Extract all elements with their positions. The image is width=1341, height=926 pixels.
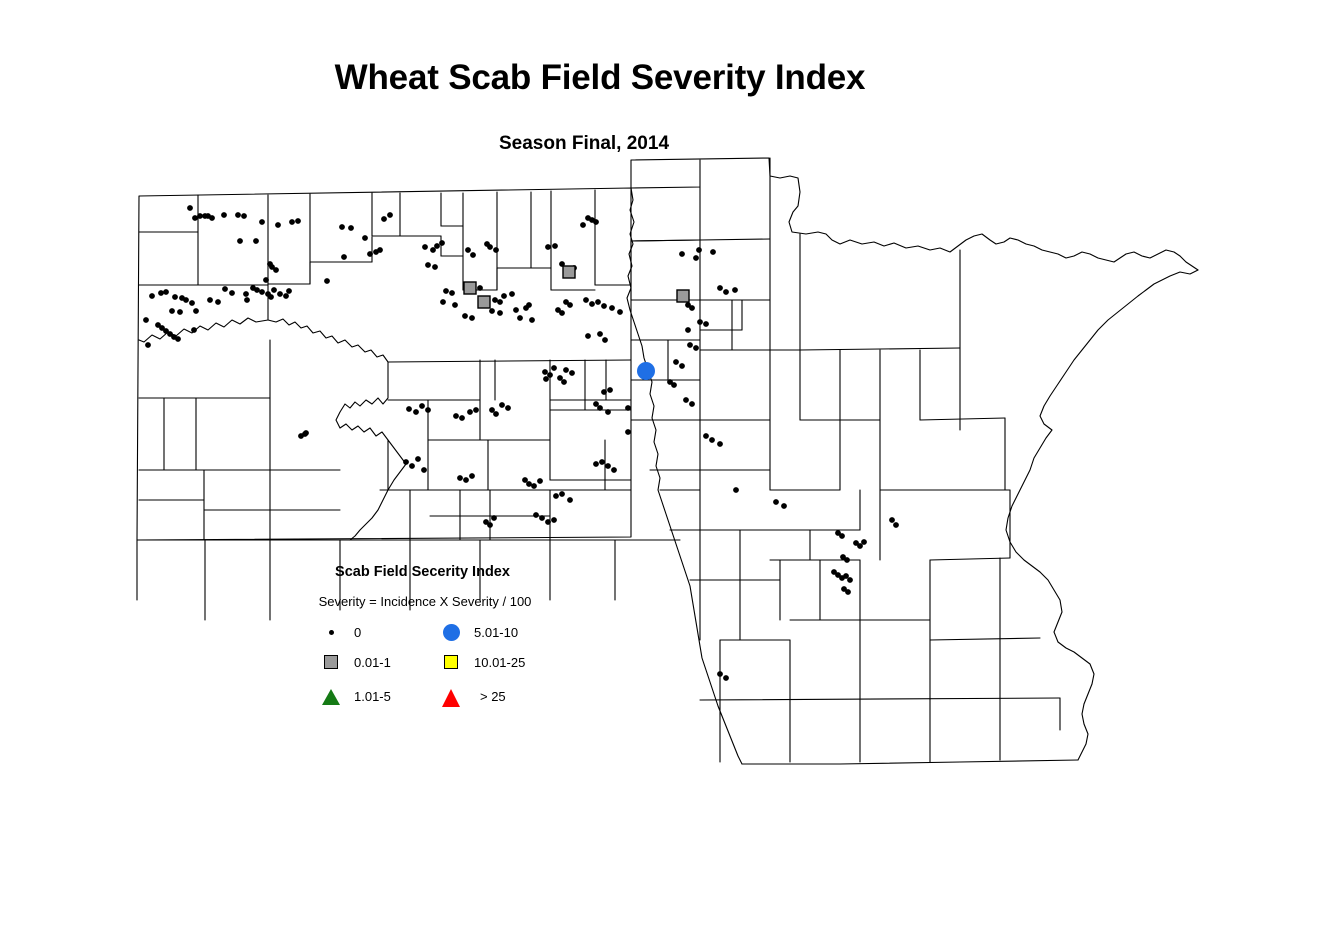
map-page: Wheat Scab Field Severity Index Season F… bbox=[0, 0, 1341, 926]
severity-point-zero bbox=[611, 467, 617, 473]
severity-point-zero bbox=[685, 327, 691, 333]
severity-point-gray-square bbox=[563, 266, 575, 278]
severity-point-zero bbox=[593, 219, 599, 225]
legend-item-label: 0.01-1 bbox=[354, 655, 391, 670]
severity-point-zero bbox=[723, 675, 729, 681]
legend-item-label: > 25 bbox=[480, 689, 506, 704]
severity-point-zero bbox=[403, 459, 409, 465]
severity-point-zero bbox=[625, 429, 631, 435]
severity-point-zero bbox=[459, 415, 465, 421]
severity-point-zero bbox=[539, 515, 545, 521]
severity-point-zero bbox=[295, 218, 301, 224]
severity-point-zero bbox=[452, 302, 458, 308]
severity-point-zero bbox=[187, 205, 193, 211]
severity-point-zero bbox=[625, 405, 631, 411]
legend-item-label: 10.01-25 bbox=[474, 655, 525, 670]
severity-point-zero bbox=[177, 309, 183, 315]
severity-point-zero bbox=[470, 252, 476, 258]
severity-point-zero bbox=[533, 512, 539, 518]
severity-point-zero bbox=[434, 243, 440, 249]
severity-point-zero bbox=[491, 515, 497, 521]
severity-point-zero bbox=[432, 264, 438, 270]
severity-point-zero bbox=[449, 290, 455, 296]
legend-item-label: 0 bbox=[354, 625, 361, 640]
severity-point-zero bbox=[893, 522, 899, 528]
severity-point-zero bbox=[193, 308, 199, 314]
severity-point-zero bbox=[732, 287, 738, 293]
severity-point-zero bbox=[543, 376, 549, 382]
severity-point-zero bbox=[545, 519, 551, 525]
severity-point-zero bbox=[367, 251, 373, 257]
severity-point-zero bbox=[847, 577, 853, 583]
severity-point-zero bbox=[673, 359, 679, 365]
severity-point-zero bbox=[497, 299, 503, 305]
severity-point-zero bbox=[845, 589, 851, 595]
legend-formula: Severity = Incidence X Severity / 100 bbox=[300, 594, 550, 609]
severity-point-zero bbox=[469, 473, 475, 479]
severity-point-zero bbox=[243, 291, 249, 297]
severity-point-zero bbox=[283, 293, 289, 299]
severity-point-zero bbox=[605, 463, 611, 469]
severity-point-zero bbox=[229, 290, 235, 296]
severity-point-zero bbox=[419, 403, 425, 409]
severity-point-zero bbox=[683, 397, 689, 403]
severity-point-zero bbox=[387, 212, 393, 218]
severity-point-zero bbox=[487, 244, 493, 250]
severity-point-zero bbox=[473, 407, 479, 413]
severity-map[interactable] bbox=[0, 0, 1341, 926]
severity-point-zero bbox=[689, 305, 695, 311]
severity-point-zero bbox=[244, 297, 250, 303]
severity-point-zero bbox=[339, 224, 345, 230]
severity-point-zero bbox=[440, 299, 446, 305]
severity-point-zero bbox=[377, 247, 383, 253]
severity-point-zero bbox=[861, 539, 867, 545]
severity-point-zero bbox=[275, 222, 281, 228]
yellow-square-icon bbox=[440, 650, 466, 676]
severity-point-zero bbox=[607, 387, 613, 393]
severity-point-zero bbox=[501, 293, 507, 299]
severity-point-zero bbox=[324, 278, 330, 284]
severity-point-zero bbox=[462, 313, 468, 319]
severity-point-zero bbox=[597, 331, 603, 337]
severity-point-zero bbox=[183, 297, 189, 303]
legend-item-label: 1.01-5 bbox=[354, 689, 391, 704]
severity-point-zero bbox=[422, 244, 428, 250]
severity-point-zero bbox=[439, 240, 445, 246]
severity-point-zero bbox=[381, 216, 387, 222]
severity-point-zero bbox=[443, 288, 449, 294]
severity-point-zero bbox=[263, 277, 269, 283]
severity-point-zero bbox=[551, 365, 557, 371]
severity-point-zero bbox=[492, 297, 498, 303]
severity-point-zero bbox=[693, 345, 699, 351]
severity-point-zero bbox=[679, 363, 685, 369]
severity-point-zero bbox=[143, 317, 149, 323]
severity-point-zero bbox=[241, 213, 247, 219]
severity-point-zero bbox=[563, 367, 569, 373]
severity-point-zero bbox=[599, 459, 605, 465]
severity-point-zero bbox=[497, 310, 503, 316]
severity-point-zero bbox=[149, 293, 155, 299]
severity-point-zero bbox=[413, 409, 419, 415]
severity-point-zero bbox=[517, 315, 523, 321]
severity-point-zero bbox=[268, 294, 274, 300]
severity-point-zero bbox=[189, 300, 195, 306]
severity-point-zero bbox=[609, 305, 615, 311]
severity-point-zero bbox=[221, 212, 227, 218]
severity-point-zero bbox=[457, 475, 463, 481]
legend-item-label: 5.01-10 bbox=[474, 625, 518, 640]
severity-point-zero bbox=[409, 463, 415, 469]
map-legend: Scab Field Secerity Index Severity = Inc… bbox=[300, 558, 562, 716]
county-boundaries bbox=[137, 158, 1198, 764]
severity-point-zero bbox=[569, 370, 575, 376]
severity-point-zero bbox=[697, 319, 703, 325]
severity-point-zero bbox=[580, 222, 586, 228]
severity-point-zero bbox=[709, 437, 715, 443]
severity-point-zero bbox=[531, 483, 537, 489]
severity-point-zero bbox=[489, 308, 495, 314]
severity-point-zero bbox=[605, 409, 611, 415]
severity-point-zero bbox=[703, 321, 709, 327]
severity-point-zero bbox=[559, 491, 565, 497]
severity-point-zero bbox=[839, 533, 845, 539]
severity-point-zero bbox=[589, 301, 595, 307]
severity-point-zero bbox=[235, 212, 241, 218]
severity-point-zero bbox=[463, 477, 469, 483]
severity-point-zero bbox=[844, 557, 850, 563]
severity-point-zero bbox=[169, 308, 175, 314]
severity-point-zero bbox=[487, 522, 493, 528]
severity-point-zero bbox=[567, 302, 573, 308]
severity-point-gray-square bbox=[677, 290, 689, 302]
severity-point-zero bbox=[465, 247, 471, 253]
severity-point-zero bbox=[348, 225, 354, 231]
severity-point-zero bbox=[733, 487, 739, 493]
severity-point-zero bbox=[197, 213, 203, 219]
severity-point-zero bbox=[209, 215, 215, 221]
severity-point-zero bbox=[145, 342, 151, 348]
severity-point-zero bbox=[567, 497, 573, 503]
severity-point-zero bbox=[509, 291, 515, 297]
severity-point-zero bbox=[717, 671, 723, 677]
severity-point-zero bbox=[601, 389, 607, 395]
severity-point-zero bbox=[362, 235, 368, 241]
severity-point-zero bbox=[191, 327, 197, 333]
green-triangle-icon bbox=[320, 684, 346, 710]
severity-point-zero bbox=[192, 215, 198, 221]
severity-point-zero bbox=[215, 299, 221, 305]
severity-point-zero bbox=[513, 307, 519, 313]
severity-point-zero bbox=[703, 433, 709, 439]
severity-point-zero bbox=[271, 287, 277, 293]
severity-point-zero bbox=[341, 254, 347, 260]
severity-point-zero bbox=[710, 249, 716, 255]
severity-point-zero bbox=[526, 481, 532, 487]
severity-point-zero bbox=[259, 289, 265, 295]
legend-title: Scab Field Secerity Index bbox=[300, 564, 545, 580]
severity-point-zero bbox=[671, 382, 677, 388]
severity-point-zero bbox=[696, 247, 702, 253]
severity-point-zero bbox=[493, 247, 499, 253]
severity-point-zero bbox=[552, 243, 558, 249]
severity-point-zero bbox=[595, 299, 601, 305]
severity-point-zero bbox=[617, 309, 623, 315]
severity-point-zero bbox=[298, 433, 304, 439]
severity-point-zero bbox=[561, 379, 567, 385]
red-triangle-icon bbox=[440, 684, 466, 710]
severity-point-zero bbox=[687, 342, 693, 348]
severity-point-zero bbox=[207, 297, 213, 303]
severity-point-zero bbox=[693, 255, 699, 261]
severity-point-zero bbox=[542, 369, 548, 375]
severity-point-zero bbox=[415, 456, 421, 462]
severity-point-zero bbox=[286, 288, 292, 294]
severity-point-zero bbox=[259, 219, 265, 225]
severity-point-zero bbox=[237, 238, 243, 244]
severity-point-zero bbox=[529, 317, 535, 323]
severity-point-gray-square bbox=[478, 296, 490, 308]
severity-point-zero bbox=[172, 294, 178, 300]
severity-point-zero bbox=[717, 441, 723, 447]
severity-point-zero bbox=[277, 291, 283, 297]
severity-point-zero bbox=[781, 503, 787, 509]
severity-point-zero bbox=[889, 517, 895, 523]
severity-point-zero bbox=[289, 219, 295, 225]
gray-square-icon bbox=[320, 650, 346, 676]
severity-point-zero bbox=[175, 336, 181, 342]
severity-point-zero bbox=[545, 244, 551, 250]
severity-point-zero bbox=[773, 499, 779, 505]
severity-point-zero bbox=[163, 289, 169, 295]
severity-point-zero bbox=[467, 409, 473, 415]
severity-point-zero bbox=[425, 407, 431, 413]
severity-point-zero bbox=[526, 302, 532, 308]
severity-point-zero bbox=[477, 285, 483, 291]
severity-point-zero bbox=[593, 461, 599, 467]
severity-point-zero bbox=[254, 287, 260, 293]
severity-point-zero bbox=[597, 405, 603, 411]
severity-point-zero bbox=[453, 413, 459, 419]
severity-point-zero bbox=[273, 267, 279, 273]
severity-point-zero bbox=[689, 401, 695, 407]
severity-point-zero bbox=[553, 493, 559, 499]
severity-point-blue-circle bbox=[637, 362, 655, 380]
severity-point-zero bbox=[499, 402, 505, 408]
severity-point-zero bbox=[421, 467, 427, 473]
severity-point-zero bbox=[406, 406, 412, 412]
severity-point-zero bbox=[559, 310, 565, 316]
severity-point-zero bbox=[583, 297, 589, 303]
severity-point-zero bbox=[717, 285, 723, 291]
severity-point-gray-square bbox=[464, 282, 476, 294]
severity-point-zero bbox=[723, 289, 729, 295]
severity-point-zero bbox=[253, 238, 259, 244]
severity-point-zero bbox=[602, 337, 608, 343]
severity-point-zero bbox=[425, 262, 431, 268]
severity-point-zero bbox=[505, 405, 511, 411]
severity-point-zero bbox=[493, 411, 499, 417]
severity-point-zero bbox=[469, 315, 475, 321]
severity-point-zero bbox=[551, 517, 557, 523]
severity-point-zero bbox=[601, 303, 607, 309]
small-black-dot-icon bbox=[320, 620, 346, 646]
severity-point-zero bbox=[222, 286, 228, 292]
severity-point-zero bbox=[537, 478, 543, 484]
severity-point-zero bbox=[585, 333, 591, 339]
severity-point-zero bbox=[679, 251, 685, 257]
severity-point-zero bbox=[158, 290, 164, 296]
blue-circle-icon bbox=[440, 620, 466, 646]
